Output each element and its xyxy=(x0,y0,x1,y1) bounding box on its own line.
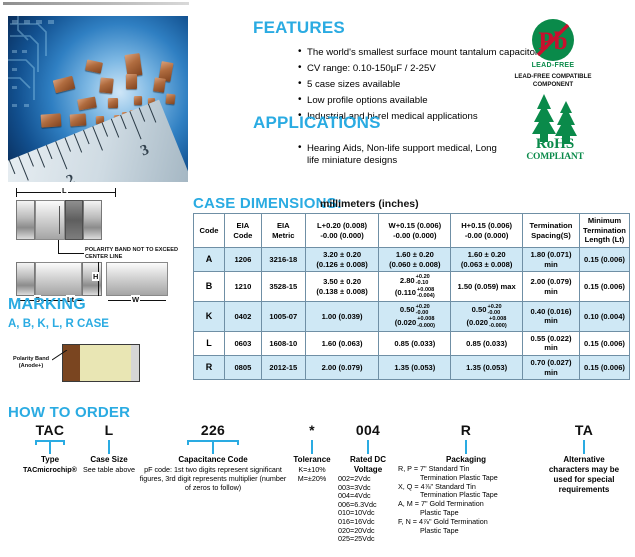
order-code-alternative: TA xyxy=(545,422,623,438)
voltage-option: 025=25Vdc xyxy=(338,535,398,544)
order-field-type: TAC Type TACmicrochip® xyxy=(18,422,82,474)
end-view-drawing xyxy=(106,262,168,296)
feature-item: The world's smallest surface mount tanta… xyxy=(298,46,538,60)
capacitor-chip xyxy=(126,74,137,89)
feature-item: 5 case sizes available xyxy=(298,78,538,92)
order-title-voltage-l1: Rated DC xyxy=(338,455,398,465)
order-title-tolerance: Tolerance xyxy=(284,455,340,465)
capacitor-chip xyxy=(153,77,166,92)
cell-height: 1.35 (0.053) xyxy=(451,356,523,380)
col-length: L+0.20 (0.008) -0.00 (0.000) xyxy=(305,214,379,248)
top-rule xyxy=(3,2,189,5)
order-field-alternative: TA Alternative characters may be used fo… xyxy=(545,422,623,495)
cell-min-termination-length: 0.15 (0.006) xyxy=(579,356,629,380)
marking-chip-drawing xyxy=(62,344,140,382)
cell-height: 1.50 (0.059) max xyxy=(451,272,523,302)
cell-eia-metric: 3528-15 xyxy=(261,272,305,302)
marking-note: Polarity Band (Anode+) xyxy=(7,356,55,370)
order-bracket xyxy=(284,440,340,454)
feature-item: Low profile options available xyxy=(298,94,538,108)
order-desc-type: TACmicrochip® xyxy=(18,465,82,474)
order-bracket xyxy=(398,440,534,454)
order-code-capacitance: 226 xyxy=(139,422,287,438)
case-dimensions-table: Code EIA Code EIA Metric L+0.20 (0.008) … xyxy=(193,213,630,380)
table-row: L 0603 1608-10 1.60 (0.063) 0.85 (0.033)… xyxy=(194,331,630,355)
cell-code: K xyxy=(194,302,225,332)
order-packaging-options: R, P = 7" Standard Tin Termination Plast… xyxy=(398,465,534,535)
cell-code: L xyxy=(194,331,225,355)
capacitor-chip xyxy=(108,98,118,108)
cell-eia-metric: 1005-07 xyxy=(261,302,305,332)
cell-length: 3.20 ± 0.20 (0.126 ± 0.008) xyxy=(305,248,379,272)
order-bracket xyxy=(545,440,623,454)
l-dim-label: L xyxy=(61,186,68,195)
capacitor-chip xyxy=(166,94,176,105)
rohs-label: RoHS xyxy=(513,137,597,152)
table-row: B 1210 3528-15 3.50 ± 0.20 (0.138 ± 0.00… xyxy=(194,272,630,302)
cell-length: 1.00 (0.039) xyxy=(305,302,379,332)
order-title-case-size: Case Size xyxy=(80,455,138,465)
how-to-order-heading: HOW TO ORDER xyxy=(8,404,130,421)
l-dim-cap-left xyxy=(16,188,17,197)
case-dimensions-units: millimeters (inches) xyxy=(320,198,419,210)
cell-eia-metric: 3216-18 xyxy=(261,248,305,272)
cell-min-termination-length: 0.10 (0.004) xyxy=(579,302,629,332)
order-code-type: TAC xyxy=(18,422,82,438)
order-code-voltage: 004 xyxy=(338,422,398,438)
cell-length: 3.50 ± 0.20 (0.138 ± 0.008) xyxy=(305,272,379,302)
order-field-case-size: L Case Size See table above xyxy=(80,422,138,474)
order-field-capacitance: 226 Capacitance Code pF code: 1st two di… xyxy=(139,422,287,492)
datasheet-page: 2 3 FEATURES The world's smallest surfac… xyxy=(0,0,635,557)
order-field-tolerance: * Tolerance K=±10% M=±20% xyxy=(284,422,340,483)
marking-heading: MARKING xyxy=(8,296,86,314)
application-item: Hearing Aids, Non-life support medical, … xyxy=(298,143,508,168)
col-height: H+0.15 (0.006) -0.00 (0.000) xyxy=(451,214,523,248)
order-tolerance-option: M=±20% xyxy=(284,474,340,483)
cell-width: 1.60 ± 0.20 (0.060 ± 0.008) xyxy=(379,248,451,272)
packaging-option: A, M = 7" Gold Termination xyxy=(398,500,534,509)
col-width: W+0.15 (0.006) -0.00 (0.000) xyxy=(379,214,451,248)
col-termination-spacing: Termination Spacing(S) xyxy=(523,214,580,248)
cell-termination-spacing: 0.70 (0.027) min xyxy=(523,356,580,380)
lead-free-label: LEAD-FREE xyxy=(518,62,588,69)
cell-width: 0.50 +0.20 -0.00 (0.020 +0.008 -0.000) xyxy=(379,302,451,332)
capacitor-chip xyxy=(41,113,62,127)
order-code-tolerance: * xyxy=(284,422,340,438)
cell-eia-metric: 2012-15 xyxy=(261,356,305,380)
packaging-option-cont: Plastic Tape xyxy=(398,527,534,536)
order-field-voltage: 004 Rated DC Voltage 002=2Vdc 003=3Vdc 0… xyxy=(338,422,398,544)
order-desc-case-size: See table above xyxy=(80,465,138,474)
cell-width: 2.80 +0.20 -0.10 (0.110 +0.008 -0.004) xyxy=(379,272,451,302)
cell-height: 0.85 (0.033) xyxy=(451,331,523,355)
cell-termination-spacing: 0.40 (0.016) min xyxy=(523,302,580,332)
cell-width: 1.35 (0.053) xyxy=(379,356,451,380)
polarity-leader-h xyxy=(58,253,84,254)
table-row: A 1206 3216-18 3.20 ± 0.20 (0.126 ± 0.00… xyxy=(194,248,630,272)
order-bracket xyxy=(18,440,82,454)
cell-termination-spacing: 2.00 (0.079) min xyxy=(523,272,580,302)
product-photo: 2 3 xyxy=(8,16,188,182)
col-code: Code xyxy=(194,214,225,248)
cell-code: R xyxy=(194,356,225,380)
cell-length: 2.00 (0.079) xyxy=(305,356,379,380)
order-desc-capacitance: pF code: 1st two digits represent signif… xyxy=(139,465,287,492)
polarity-leader-v xyxy=(58,240,59,254)
col-eia-code: EIA Code xyxy=(224,214,261,248)
cell-termination-spacing: 1.80 (0.071) min xyxy=(523,248,580,272)
cell-eia-code: 0402 xyxy=(224,302,261,332)
applications-list: Hearing Aids, Non-life support medical, … xyxy=(258,143,508,170)
table-row: K 0402 1005-07 1.00 (0.039) 0.50 +0.20 -… xyxy=(194,302,630,332)
cell-height: 0.50 +0.20 -0.00 (0.020 +0.008 -0.000) xyxy=(451,302,523,332)
features-heading: FEATURES xyxy=(253,18,345,38)
capacitor-chip xyxy=(70,113,87,126)
feature-item: CV range: 0.10-150µF / 2-25V xyxy=(298,62,538,76)
cell-eia-code: 0805 xyxy=(224,356,261,380)
cell-height: 1.60 ± 0.20 (0.063 ± 0.008) xyxy=(451,248,523,272)
order-voltage-options: 002=2Vdc 003=3Vdc 004=4Vdc 006=6.3Vdc 01… xyxy=(338,475,398,544)
order-bracket xyxy=(139,440,287,454)
w-dim-label: W xyxy=(131,295,140,304)
table-header-row: Code EIA Code EIA Metric L+0.20 (0.008) … xyxy=(194,214,630,248)
order-code-packaging: R xyxy=(398,422,534,438)
order-field-packaging: R Packaging R, P = 7" Standard Tin Termi… xyxy=(398,422,534,535)
capacitor-chip xyxy=(99,77,113,93)
capacitor-chip xyxy=(134,96,142,105)
packaging-option: F, N = 4⅞" Gold Termination xyxy=(398,518,534,527)
polarity-band-note: POLARITY BAND NOT TO EXCEED CENTER LINE xyxy=(85,247,185,261)
h-dim-label: H xyxy=(92,272,99,281)
rohs-sub-label: COMPLIANT xyxy=(513,152,597,162)
order-title-type: Type xyxy=(18,455,82,465)
cell-eia-code: 1206 xyxy=(224,248,261,272)
order-bracket xyxy=(80,440,138,454)
cell-eia-code: 1210 xyxy=(224,272,261,302)
marking-case-list: A, B, K, L, R CASE xyxy=(8,318,109,330)
capacitor-chip xyxy=(85,59,103,73)
l-dim-cap-right xyxy=(115,188,116,197)
lead-free-sub-label: LEAD-FREE COMPATIBLE COMPONENT xyxy=(505,73,601,89)
order-title-capacitance: Capacitance Code xyxy=(139,455,287,465)
cell-length: 1.60 (0.063) xyxy=(305,331,379,355)
cell-eia-code: 0603 xyxy=(224,331,261,355)
cell-min-termination-length: 0.15 (0.006) xyxy=(579,272,629,302)
side-view-drawing xyxy=(16,200,128,240)
order-tolerance-option: K=±10% xyxy=(284,465,340,474)
cell-width: 0.85 (0.033) xyxy=(379,331,451,355)
cell-min-termination-length: 0.15 (0.006) xyxy=(579,331,629,355)
lead-free-icon: Pb xyxy=(531,18,575,62)
order-desc-alternative: Alternative characters may be used for s… xyxy=(545,455,623,495)
order-code-case-size: L xyxy=(80,422,138,438)
col-eia-metric: EIA Metric xyxy=(261,214,305,248)
termination-end xyxy=(131,345,139,381)
cell-eia-metric: 1608-10 xyxy=(261,331,305,355)
cell-code: B xyxy=(194,272,225,302)
cell-min-termination-length: 0.15 (0.006) xyxy=(579,248,629,272)
capacitor-chip xyxy=(77,97,97,111)
cell-termination-spacing: 0.55 (0.022) min xyxy=(523,331,580,355)
cell-code: A xyxy=(194,248,225,272)
applications-heading: APPLICATIONS xyxy=(253,113,381,133)
table-row: R 0805 2012-15 2.00 (0.079) 1.35 (0.053)… xyxy=(194,356,630,380)
order-bracket xyxy=(338,440,398,454)
col-min-termination-length: Minimum Termination Length (Lt) xyxy=(579,214,629,248)
